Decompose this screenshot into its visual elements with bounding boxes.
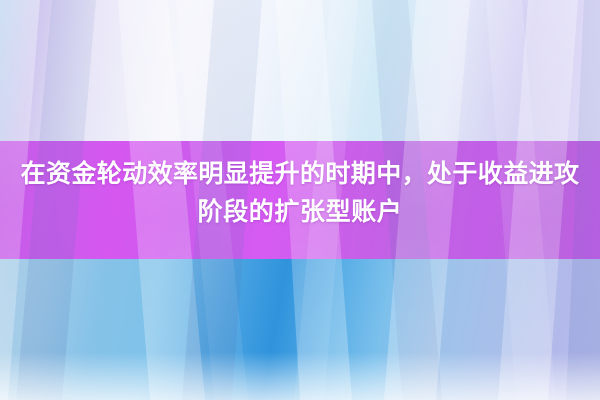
banner-canvas: 在资金轮动效率明显提升的时期中，处于收益进攻 阶段的扩张型账户 xyxy=(0,0,600,400)
background-band-top xyxy=(0,0,600,142)
background-band-bottom xyxy=(0,259,600,400)
background-band-middle xyxy=(0,141,600,260)
